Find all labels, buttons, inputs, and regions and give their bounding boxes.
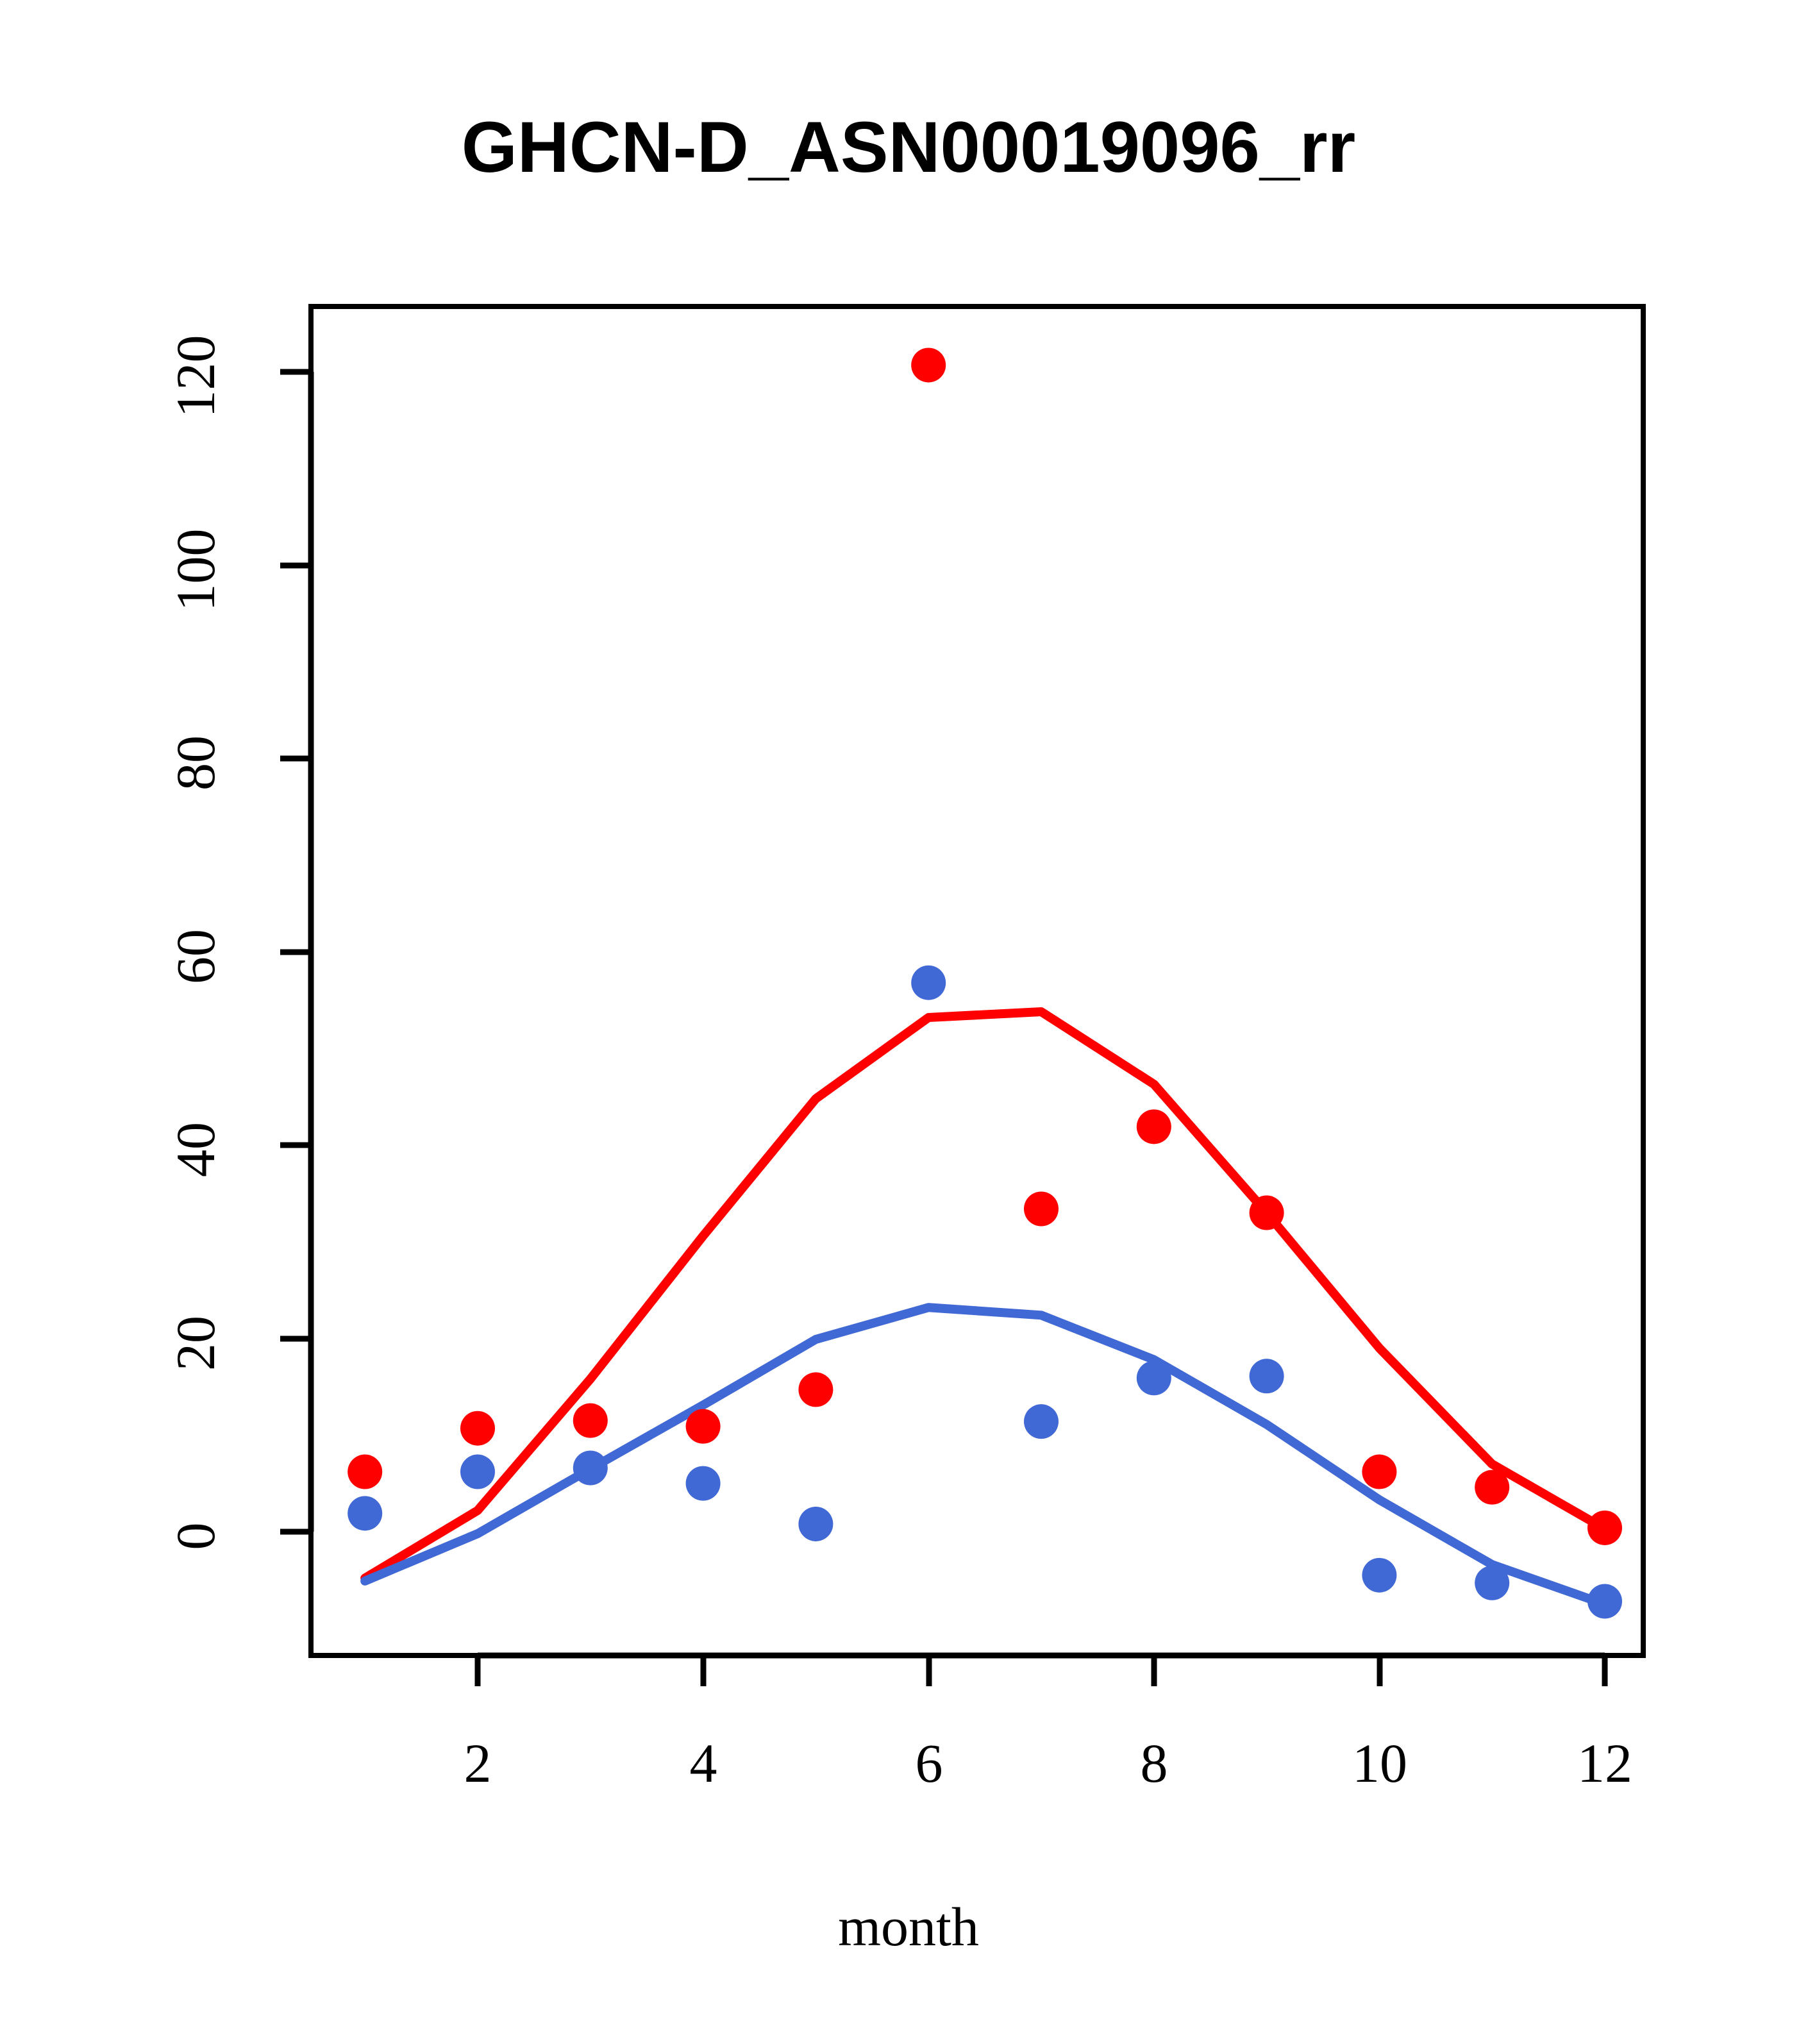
data-point — [686, 1409, 721, 1444]
x-axis-title: month — [0, 1895, 1817, 1959]
data-point — [573, 1403, 608, 1438]
data-point — [798, 1372, 833, 1407]
data-point — [686, 1466, 721, 1501]
y-tick-label: 100 — [163, 512, 228, 628]
data-point — [1137, 1109, 1171, 1144]
series-line-blue-line — [365, 1307, 1605, 1604]
data-point — [1137, 1361, 1171, 1395]
data-point — [911, 966, 946, 1000]
y-tick-label: 120 — [163, 319, 228, 434]
y-tick-label: 60 — [163, 899, 228, 1014]
y-tick-label: 0 — [163, 1479, 228, 1594]
data-point — [1475, 1470, 1509, 1505]
x-tick-label: 10 — [1303, 1731, 1457, 1795]
y-tick-label: 80 — [163, 705, 228, 821]
y-tick-label: 20 — [163, 1286, 228, 1401]
y-axis-ticks — [280, 372, 311, 1532]
data-point — [1362, 1558, 1396, 1593]
data-series-layer — [347, 348, 1622, 1618]
plot-page: GHCN-D_ASN00019096_rr 1 — [0, 0, 1817, 2044]
data-point — [1250, 1196, 1284, 1230]
y-tick-label: 40 — [163, 1092, 228, 1207]
x-tick-label: 8 — [1077, 1731, 1231, 1795]
x-tick-label: 6 — [852, 1731, 1006, 1795]
x-tick-label: 4 — [626, 1731, 780, 1795]
data-point — [1024, 1191, 1059, 1226]
data-point — [460, 1411, 495, 1446]
x-tick-label: 2 — [401, 1731, 555, 1795]
data-point — [1024, 1404, 1059, 1439]
data-point — [1587, 1511, 1622, 1545]
data-point — [1362, 1455, 1396, 1489]
plot-frame — [311, 306, 1643, 1655]
data-point — [573, 1451, 608, 1486]
data-point — [347, 1496, 382, 1530]
data-point — [911, 348, 946, 382]
data-point — [798, 1507, 833, 1541]
x-tick-label: 12 — [1528, 1731, 1682, 1795]
data-point — [460, 1455, 495, 1489]
data-point — [1250, 1359, 1284, 1393]
data-point — [347, 1455, 382, 1489]
data-point — [1587, 1584, 1622, 1619]
x-axis-ticks — [478, 1655, 1605, 1686]
data-point — [1475, 1566, 1509, 1600]
